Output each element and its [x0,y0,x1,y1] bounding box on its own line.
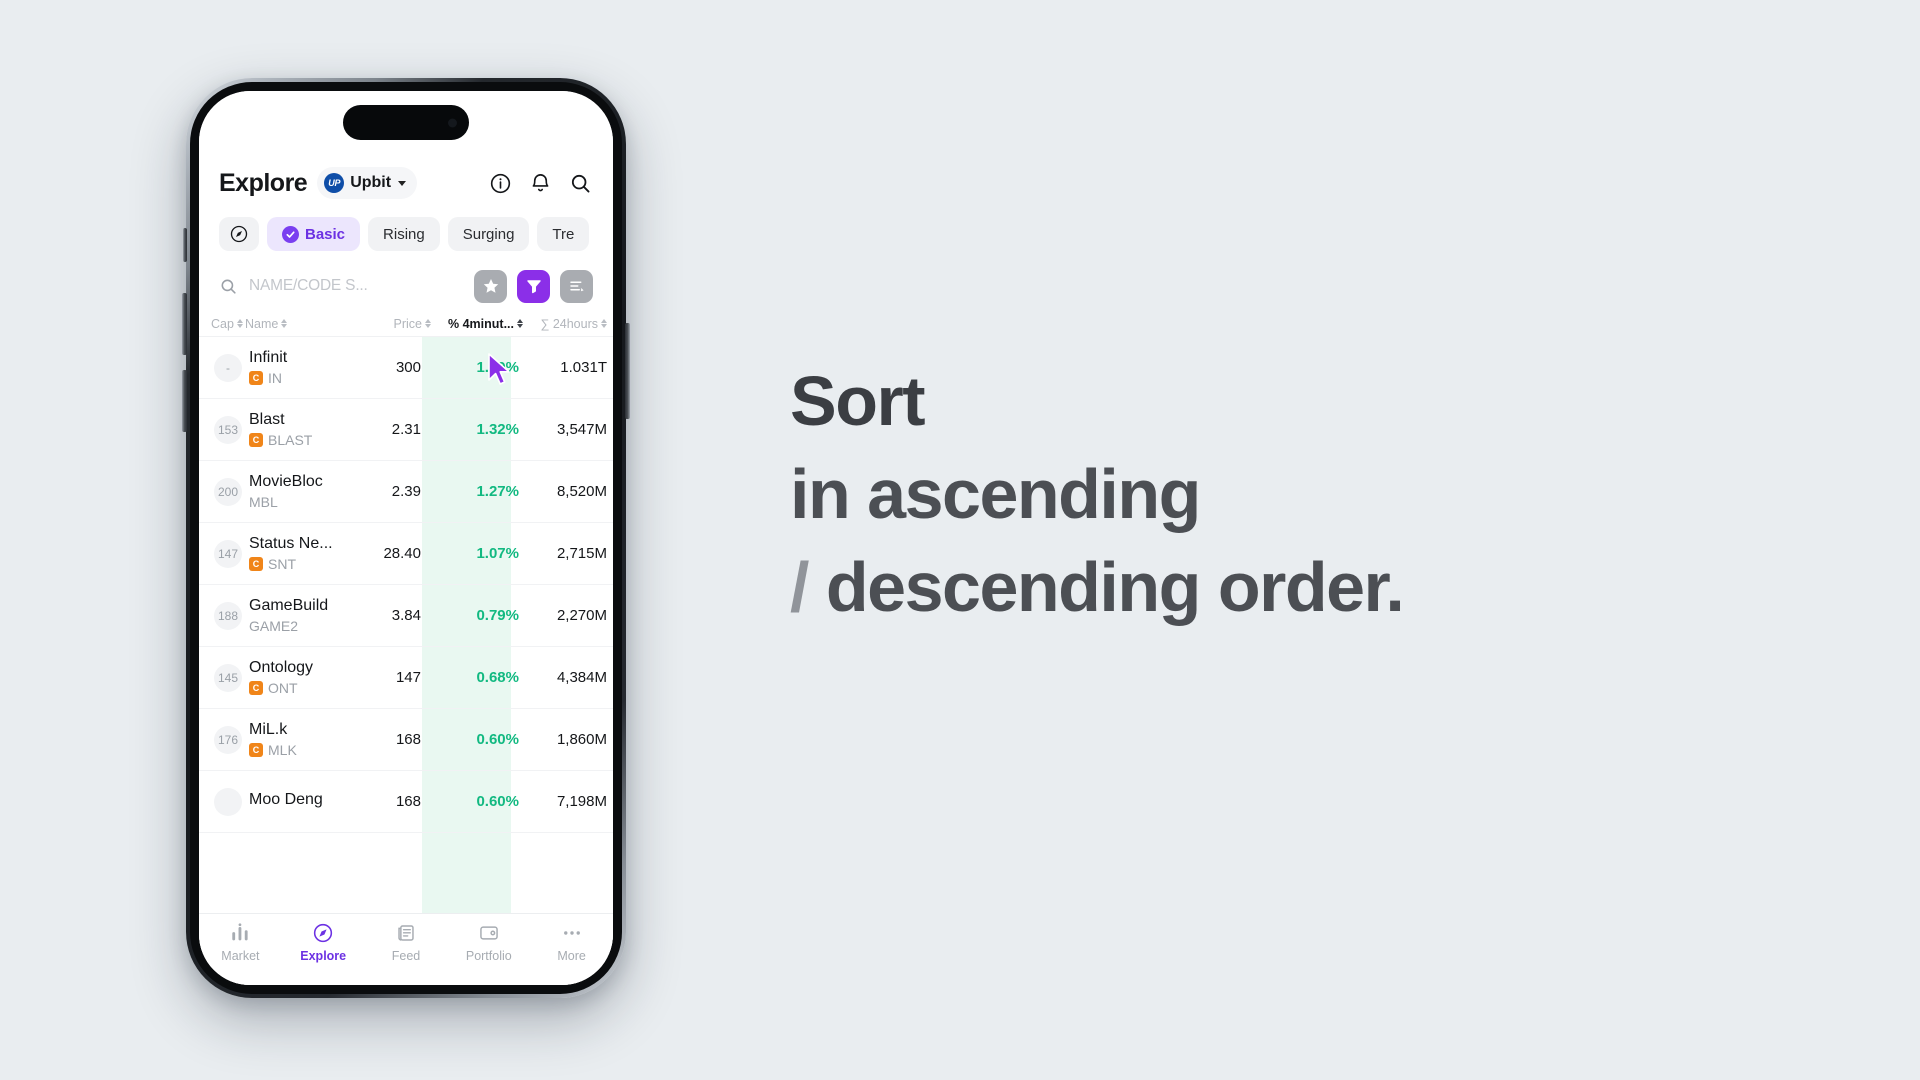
rank-badge: 145 [214,664,242,692]
coin-name: MiL.k [249,721,396,739]
price-cell: 2.31 [392,421,431,438]
coin-name: Ontology [249,659,396,677]
ticker-line: GAME2 [249,618,392,634]
sort-arrows-icon [601,319,607,328]
chevron-down-icon [398,181,406,186]
chip-label: Surging [463,226,515,243]
filter-button[interactable] [517,270,550,303]
coin-ticker: ONT [268,680,298,696]
chip-trending[interactable]: Tre [537,217,589,251]
front-camera-icon [448,118,457,127]
rank-badge: 188 [214,602,242,630]
volume-cell: 4,384M [523,669,607,686]
percent-change-cell: 1.32% [431,421,523,438]
sort-percent-change[interactable]: % 4minut... [431,317,523,331]
rank-badge: 153 [214,416,242,444]
check-circle-icon [282,226,299,243]
percent-change-cell: 0.79% [431,607,523,624]
price-cell: 3.84 [392,607,431,624]
percent-change-cell: 0.68% [431,669,523,686]
nav-item-more[interactable]: More [530,922,613,963]
nav-label: Portfolio [466,949,512,963]
nav-label: Explore [300,949,346,963]
network-badge-icon: C [249,743,263,757]
table-row[interactable]: 153 Blast CBLAST 2.31 1.32% 3,547M [199,399,613,461]
favorites-button[interactable] [474,270,507,303]
rank-cell: 188 [211,602,245,630]
name-cell: MiL.k CMLK [245,721,396,758]
search-icon[interactable] [565,168,595,198]
rank-cell [211,788,245,816]
volume-cell: 8,520M [523,483,607,500]
name-cell: MovieBloc MBL [245,473,392,510]
upbit-logo-icon: UP [324,173,344,193]
sort-arrows-icon [281,319,287,328]
dynamic-island [343,105,469,140]
wallet-icon [478,922,500,944]
coin-table[interactable]: - Infinit CIN 300 1.69% 1.031T 153 Blast… [199,337,613,913]
price-cell: 2.39 [392,483,431,500]
name-cell: Status Ne... CSNT [245,535,383,572]
coin-ticker: IN [268,370,282,386]
coin-ticker: BLAST [268,432,312,448]
ticker-line: CONT [249,680,396,696]
volume-up-button[interactable] [182,293,187,355]
search-box[interactable] [219,268,464,304]
coin-name: Infinit [249,349,396,367]
chip-label: Tre [552,226,574,243]
crypto-app: Explore UP Upbit [199,91,613,985]
rank-cell: 153 [211,416,245,444]
bottom-navigation: Market Explore [199,913,613,985]
sort-volume[interactable]: ∑ 24hours [523,317,607,331]
percent-change-cell: 1.27% [431,483,523,500]
volume-down-button[interactable] [182,370,187,432]
coin-ticker: MBL [249,494,278,510]
marketing-headline: Sort in ascending / descending order. [790,355,1770,634]
search-row [199,261,613,311]
headline-line-2: in ascending [790,448,1770,541]
ticker-line: CBLAST [249,432,392,448]
nav-label: Market [221,949,259,963]
phone-screen: Explore UP Upbit [199,91,613,985]
nav-item-feed[interactable]: Feed [365,922,448,963]
header-price: Price [394,317,422,331]
rank-cell: 176 [211,726,245,754]
header-percent: % 4minut... [448,317,514,331]
network-badge-icon: C [249,433,263,447]
exchange-selector[interactable]: UP Upbit [317,167,417,199]
bar-chart-icon [229,922,251,944]
bell-icon[interactable] [525,168,555,198]
coin-name: Moo Deng [249,791,396,809]
name-cell: GameBuild GAME2 [245,597,392,634]
ellipsis-icon [561,922,583,944]
phone-mockup: Explore UP Upbit [186,78,626,998]
chip-label: Rising [383,226,425,243]
table-row[interactable]: 188 GameBuild GAME2 3.84 0.79% 2,270M [199,585,613,647]
rank-badge [214,788,242,816]
price-cell: 28.40 [383,545,431,562]
list-settings-button[interactable] [560,270,593,303]
sort-cap[interactable]: Cap [211,317,245,331]
table-row[interactable]: 145 Ontology CONT 147 0.68% 4,384M [199,647,613,709]
nav-label: More [557,949,585,963]
news-icon [395,922,417,944]
volume-cell: 7,198M [523,793,607,810]
table-row[interactable]: 200 MovieBloc MBL 2.39 1.27% 8,520M [199,461,613,523]
coin-ticker: MLK [268,742,297,758]
price-cell: 168 [396,793,431,810]
nav-item-explore[interactable]: Explore [282,922,365,963]
coin-name: Blast [249,411,392,429]
chip-label: Basic [305,226,345,243]
headline-line-3: / descending order. [790,541,1770,634]
percent-change-cell: 1.69% [431,359,523,376]
percent-change-cell: 1.07% [431,545,523,562]
price-cell: 168 [396,731,431,748]
network-badge-icon: C [249,371,263,385]
coin-ticker: GAME2 [249,618,298,634]
chip-basic[interactable]: Basic [267,217,360,251]
exchange-name: Upbit [350,174,391,192]
rank-badge: 176 [214,726,242,754]
header-cap: Cap [211,317,234,331]
ticker-line: CMLK [249,742,396,758]
sort-name[interactable]: Name [245,317,394,331]
table-header: Cap Name Price % 4minut... ∑ 24hours [199,311,613,337]
page-title: Explore [219,169,307,198]
name-cell: Ontology CONT [245,659,396,696]
rank-badge: 147 [214,540,242,568]
chip-surging[interactable]: Surging [448,217,530,251]
price-cell: 300 [396,359,431,376]
silent-switch[interactable] [183,228,187,262]
headline-line-1: Sort [790,355,1770,448]
coin-name: Status Ne... [249,535,383,553]
header-volume: ∑ 24hours [540,317,598,331]
network-badge-icon: C [249,557,263,571]
nav-item-portfolio[interactable]: Portfolio [447,922,530,963]
table-row[interactable]: Moo Deng 168 0.60% 7,198M [199,771,613,833]
rank-badge: - [214,354,242,382]
header-name: Name [245,317,278,331]
nav-label: Feed [392,949,421,963]
table-row[interactable]: 176 MiL.k CMLK 168 0.60% 1,860M [199,709,613,771]
sort-price[interactable]: Price [394,317,431,331]
volume-cell: 2,270M [523,607,607,624]
app-header: Explore UP Upbit [199,153,613,213]
info-circle-icon[interactable] [485,168,515,198]
table-row[interactable]: 147 Status Ne... CSNT 28.40 1.07% 2,715M [199,523,613,585]
compass-icon [312,922,334,944]
rank-badge: 200 [214,478,242,506]
rank-cell: 147 [211,540,245,568]
volume-cell: 2,715M [523,545,607,562]
name-cell: Blast CBLAST [245,411,392,448]
percent-change-cell: 0.60% [431,793,523,810]
rank-cell: - [211,354,245,382]
network-badge-icon: C [249,681,263,695]
coin-ticker: SNT [268,556,296,572]
rank-cell: 200 [211,478,245,506]
chip-compass[interactable] [219,217,259,251]
table-row[interactable]: - Infinit CIN 300 1.69% 1.031T [199,337,613,399]
filter-chips: Basic Rising Surging Tre [199,213,613,261]
search-input[interactable] [249,277,464,295]
headline-slash: / [790,548,808,626]
percent-change-cell: 0.60% [431,731,523,748]
nav-item-market[interactable]: Market [199,922,282,963]
ticker-line: MBL [249,494,392,510]
price-cell: 147 [396,669,431,686]
coin-name: GameBuild [249,597,392,615]
power-button[interactable] [625,323,630,419]
volume-cell: 1,860M [523,731,607,748]
headline-line-3-text: descending order. [826,548,1403,626]
name-cell: Moo Deng [245,791,396,812]
volume-cell: 1.031T [523,359,607,376]
ticker-line: CSNT [249,556,383,572]
sort-arrows-icon [237,319,243,328]
volume-cell: 3,547M [523,421,607,438]
name-cell: Infinit CIN [245,349,396,386]
ticker-line: CIN [249,370,396,386]
chip-rising[interactable]: Rising [368,217,440,251]
rank-cell: 145 [211,664,245,692]
coin-name: MovieBloc [249,473,392,491]
